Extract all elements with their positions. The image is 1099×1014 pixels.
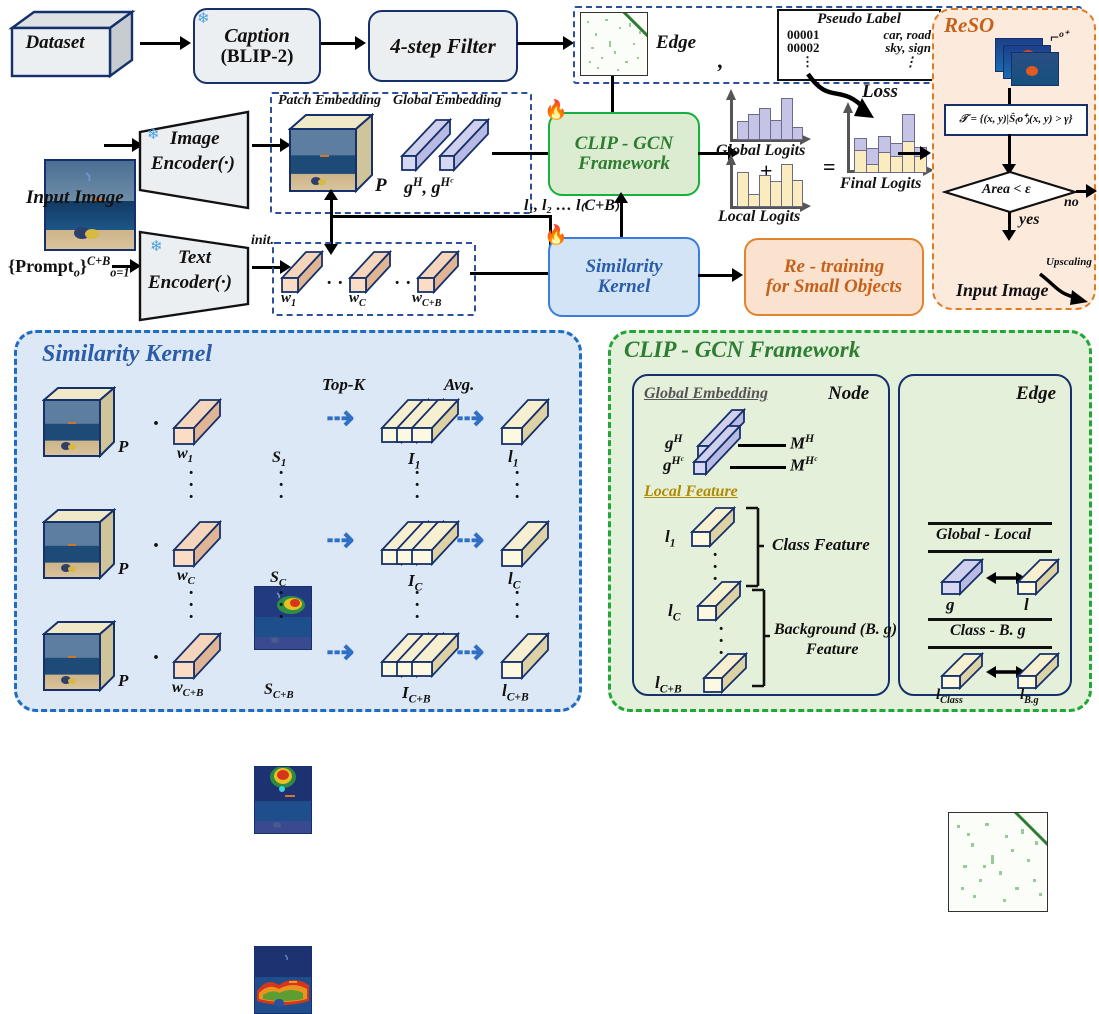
sk-ICB-text: I [402, 683, 409, 702]
image-encoder-label: Image [170, 129, 220, 149]
sk-wcb-sub: C+B [183, 687, 204, 699]
final-logits-chart [843, 110, 935, 176]
node-lc-shape [696, 580, 744, 624]
local-feature-heading: Local Feature [644, 484, 738, 501]
sk-lCB-sub: C+B [507, 690, 529, 703]
sk-row-2-weight [172, 518, 224, 570]
node-g2-text: g [663, 456, 672, 475]
global-embedding-symbols: gH, gHᶜ [404, 176, 453, 197]
filter-box[interactable]: 4-step Filter [368, 10, 518, 82]
arrow-similarity-to-retraining [698, 274, 734, 277]
edge-box-title: Edge [1016, 384, 1056, 404]
global-logits-chart [726, 97, 812, 143]
arrowhead-1 [180, 36, 191, 50]
sk-scb-text: S [264, 681, 273, 698]
edge-lclass-label: lClass [936, 688, 963, 707]
sk-l1-shape [500, 396, 552, 448]
logits-flow-label: l₁, l₂ … l₍C+B₎ [524, 198, 619, 215]
pseudo-id-3: ⋮ [801, 55, 814, 69]
loss-label: Loss [862, 82, 898, 102]
reso-decision-label: Area < ε [982, 183, 1031, 198]
sk-dots-col-l-2: ··· [514, 588, 520, 623]
flame-icon-similarity: 🔥 [544, 226, 568, 245]
edge-matrix-noise [581, 13, 647, 75]
similarity-line1: Similarity [585, 257, 662, 277]
node-lc-bar [696, 580, 744, 624]
sk-row-2-avg-arrow: ⇢ [456, 520, 482, 560]
background-feature-brace [748, 588, 770, 690]
edge-divider-3 [928, 618, 1052, 621]
equals-sign: = [823, 155, 836, 178]
input-image-label: Input Image [26, 188, 124, 208]
node-g1-text: g [665, 434, 674, 453]
node-l1-shape [690, 506, 738, 550]
w1-label: w1 [281, 291, 296, 310]
arrowhead-18 [1086, 184, 1097, 198]
topk-label: Top-K [322, 376, 365, 394]
sk-row-2-patch [42, 508, 116, 580]
sk-dots-col-s-2: ··· [278, 588, 284, 623]
sk-row-3-logit [500, 630, 552, 682]
similarity-kernel-panel-title: Similarity Kernel [42, 342, 212, 367]
sk-I1-shape [380, 392, 462, 450]
arrowhead-12 [614, 192, 628, 203]
clip-gcn-framework-box[interactable]: CLIP - GCN Framework [548, 112, 700, 196]
node-l1-label: l1 [665, 528, 676, 550]
pseudo-label-row-1: 00001 car, road [779, 28, 939, 42]
arrow-similarity-to-clipgcn [620, 199, 623, 237]
arrow-image-to-encoder [104, 144, 134, 147]
edge-label: Edge [656, 33, 696, 53]
sk-wcb-text: w [172, 679, 183, 696]
sk-row-3-patch-label: P [118, 672, 128, 690]
arrowhead-up-1 [324, 189, 338, 200]
sk-wc-shape [172, 518, 224, 570]
edge-matrix-bottom [948, 812, 1048, 912]
wc-shape [348, 248, 392, 294]
text-encoder-sublabel: Encoder(·) [148, 273, 232, 293]
clip-gcn-line2: Framework [578, 154, 670, 174]
edge-l-shape [1016, 558, 1062, 600]
reso-decision-diamond: Area < ε [942, 170, 1078, 214]
clip-gcn-line1: CLIP - GCN [575, 134, 674, 154]
sk-row-2-patch-label: P [118, 560, 128, 578]
patch-embedding-label: Patch Embedding [278, 94, 381, 109]
edge-l-label: l [1024, 596, 1029, 614]
w1-text: w [281, 290, 291, 306]
reso-title: ReSO [944, 14, 994, 36]
node-g2-connector [730, 466, 786, 469]
wcb-text: w [412, 290, 422, 306]
node-m2-label: MHᶜ [790, 455, 817, 475]
node-g2-label: gHᶜ [663, 455, 683, 475]
retraining-line1: Re - training [784, 257, 884, 277]
wcb-bar [416, 248, 460, 294]
pseudo-labels-3: ⋮ [904, 55, 917, 69]
pseudo-id-1: 00001 [787, 28, 820, 42]
sk-wc-text: w [177, 567, 188, 584]
wcb-sub: C+B [422, 298, 441, 309]
class-feature-label: Class Feature [772, 536, 870, 554]
text-encoder-label: Text [178, 248, 211, 268]
reso-arrow-2 [1008, 134, 1011, 166]
sk-dots-col-w-1: ··· [188, 468, 194, 503]
arrow-caption-to-filter [321, 42, 357, 45]
similarity-line2: Kernel [598, 277, 651, 297]
w1-shape [280, 248, 324, 294]
edge-g-shape [940, 558, 986, 600]
sk-ICB-shape [380, 626, 462, 684]
sk-row-3-sim-label: SC+B [264, 682, 294, 702]
arrowhead-19 [1002, 230, 1016, 241]
dataset-label: Dataset [16, 33, 94, 53]
flame-icon-clipgcn: 🔥 [544, 101, 568, 120]
global-embedding-bars [400, 112, 496, 178]
edge-divider-2 [928, 550, 1052, 553]
w1-bar [280, 248, 324, 294]
patch-text-link [330, 196, 333, 246]
arrowhead-15 [920, 146, 931, 160]
sk-cube-2 [42, 508, 116, 580]
sk-row-1-weight [172, 396, 224, 448]
sk-row-3-dot: · [152, 646, 160, 671]
sk-ICB-sub: C+B [409, 692, 431, 705]
sk-row-1-patch-label: P [118, 438, 128, 456]
arrow-filter-to-edge [517, 42, 565, 45]
node-m1-text: M [790, 434, 805, 453]
node-m1-sup: H [805, 432, 814, 445]
pseudo-labels-1: car, road [883, 28, 931, 42]
reso-no-label: no [1064, 196, 1079, 211]
reso-upscaling-label: Upscaling [1046, 257, 1092, 269]
edge-divider-4 [928, 646, 1052, 649]
background-feature-label-1: Background (B. g) [774, 622, 897, 639]
patch-embedding-cube [288, 113, 374, 193]
node-m1-label: MH [790, 433, 814, 453]
sk-row-3-weight-label: wC+B [172, 680, 203, 700]
sk-dots-col-i-2: ··· [414, 588, 420, 623]
reso-output-arrow [1038, 268, 1096, 308]
sk-heat-2 [255, 767, 311, 833]
node-l1-sub: 1 [670, 536, 676, 549]
wc-text: w [349, 290, 359, 306]
sk-row-2-logit [500, 518, 552, 570]
node-l1-bar [690, 506, 738, 550]
node-lcb-shape [702, 652, 750, 696]
caption-box[interactable]: Caption (BLIP-2) [193, 8, 321, 84]
sk-dots-col-l-1: ··· [514, 468, 520, 503]
arrow-prompt-to-textencoder [112, 265, 132, 268]
reso-stack-sup: o⁺ [1059, 30, 1069, 40]
node-lc-label: lC [668, 602, 680, 624]
sk-row-3-topk-label: IC+B [402, 684, 431, 706]
edge-lbg-sub: B.g [1024, 695, 1038, 706]
local-logits-title: Local Logits [718, 209, 800, 226]
reso-stack-symbol: ⌐o⁺ [1050, 30, 1069, 47]
wcb-label: wC+B [412, 291, 441, 310]
arrow-to-reso [898, 152, 922, 155]
node-m2-text: M [790, 456, 805, 475]
pseudo-labels-2: sky, sign [885, 41, 931, 55]
sk-row-3-avg-arrow: ⇢ [456, 632, 482, 672]
node-lc-sub: C [673, 610, 681, 623]
sk-row-3-weight [172, 630, 224, 682]
image-encoder-sublabel: Encoder(·) [151, 154, 235, 174]
similarity-kernel-box[interactable]: Similarity Kernel [548, 237, 700, 317]
pseudo-label-title: Pseudo Label [779, 12, 939, 28]
sk-row-3-logit-label: lC+B [502, 682, 529, 704]
sk-w1-text: w [177, 445, 188, 462]
global-local-label: Global - Local [936, 527, 1031, 544]
edge-g-label: g [946, 596, 955, 614]
sk-w1-shape [172, 396, 224, 448]
w1-sub: 1 [291, 298, 296, 309]
edge-matrix-noise-2 [949, 813, 1047, 911]
g-symbol-2: g [432, 177, 441, 197]
class-feature-brace [742, 506, 764, 590]
sk-dots-col-i-1: ··· [414, 468, 420, 503]
retraining-box[interactable]: Re - training for Small Objects [744, 238, 924, 316]
pseudo-id-2: 00002 [787, 41, 820, 55]
sk-scb-sub: C+B [273, 689, 294, 701]
edge-lclass-sub: Class [940, 695, 963, 706]
wc-sub: C [359, 298, 366, 309]
clip-gcn-panel-title: CLIP - GCN Framework [624, 338, 860, 362]
node-m2-sup: Hᶜ [805, 454, 817, 467]
reso-formula-box: 𝒯 = {(x, y)|Ŝ₍o⁺₎(x, y) > γ} [944, 104, 1088, 136]
node-lcb-sub: C+B [660, 682, 682, 695]
caption-sublabel: (BLIP-2) [221, 47, 294, 67]
sk-row-1-patch [42, 386, 116, 458]
class-bg-label: Class - B. g [950, 623, 1026, 640]
arrowhead-2 [355, 36, 366, 50]
edge-g-bar [940, 558, 986, 600]
patch-cube-shape [288, 113, 374, 193]
edge-matrix-top [580, 12, 648, 76]
edge-lbg-label: lB.g [1020, 688, 1039, 707]
sk-row-3-patch [42, 620, 116, 692]
sk-row-1-dot: · [152, 412, 160, 437]
reso-formula: 𝒯 = {(x, y)|Ŝ₍o⁺₎(x, y) > γ} [959, 114, 1072, 126]
sk-row-2-topk-out [380, 514, 462, 572]
edge-divider-1 [928, 522, 1052, 525]
arrowhead-14 [732, 268, 743, 282]
sk-row-2-simmap [254, 766, 312, 834]
g-sup-1: H [413, 175, 423, 189]
global-bars-shape [400, 112, 496, 178]
global-embedding-heading: Global Embedding [644, 386, 768, 403]
node-g1-label: gH [665, 433, 682, 453]
background-feature-label-2: Feature [806, 642, 858, 659]
arrow-dataset-to-caption [140, 42, 182, 45]
retraining-line2: for Small Objects [766, 277, 902, 297]
wcb-shape [416, 248, 460, 294]
sk-dots-col-s-1: ··· [278, 468, 284, 503]
caption-label: Caption [224, 26, 290, 47]
comma-separator: , [718, 49, 724, 72]
init-label: init. [251, 234, 274, 249]
sk-row-1-avg-arrow: ⇢ [456, 398, 482, 438]
pseudo-label-row-3: ⋮ ⋮ [779, 55, 939, 69]
node-g1-sup: H [674, 432, 683, 445]
edge-l-bar [1016, 558, 1062, 600]
sk-row-2-dot: · [152, 534, 160, 559]
prompt-text: {Prompt [8, 256, 74, 276]
sk-row-1-topk-out [380, 392, 462, 450]
sk-row-3-topk-arrow: ⇢ [326, 632, 352, 672]
g-symbol-1: g [404, 177, 413, 197]
sk-lC-shape [500, 518, 552, 570]
local-logits-chart [726, 162, 812, 210]
prompt-sup: C+B [87, 254, 110, 268]
snowflake-icon-text-encoder: ❄ [150, 240, 163, 255]
reso-input-image-label: Input Image [956, 281, 1049, 300]
g-sup-2: Hᶜ [441, 175, 454, 189]
snowflake-icon-image-encoder: ❄ [147, 128, 160, 143]
node-lcb-bar [702, 652, 750, 696]
node-lcb-label: lC+B [655, 674, 682, 696]
sk-heat-3 [255, 947, 311, 1013]
sk-row-3-simmap [254, 946, 312, 1014]
sk-row-1-logit [500, 396, 552, 448]
node-g2-sup: Hᶜ [672, 454, 684, 467]
sk-lCB-shape [500, 630, 552, 682]
pseudo-label-row-2: 00002 sky, sign [779, 41, 939, 55]
prompt-sub: o [74, 266, 80, 280]
sk-cube-1 [42, 386, 116, 458]
sk-cube-3 [42, 620, 116, 692]
patch-symbol: P [375, 176, 387, 196]
final-logits-title: Final Logits [840, 176, 921, 193]
sk-row-3-topk-out [380, 626, 462, 684]
global-embedding-label: Global Embedding [393, 94, 502, 109]
line-to-similarity-kernel [330, 215, 552, 218]
sk-row-1-topk-arrow: ⇢ [326, 398, 352, 438]
node-title: Node [828, 384, 869, 404]
node-g1-connector [738, 444, 786, 447]
sk-IC-shape [380, 514, 462, 572]
snowflake-icon-caption: ❄ [197, 12, 210, 27]
reso-arrow-3 [1008, 212, 1011, 232]
sk-row-2-topk-arrow: ⇢ [326, 520, 352, 560]
filter-label: 4-step Filter [390, 35, 496, 57]
wc-bar [348, 248, 392, 294]
reso-yes-label: yes [1019, 212, 1039, 229]
wc-label: wC [349, 291, 366, 310]
sk-wcb-shape [172, 630, 224, 682]
sk-dots-col-w-2: ··· [188, 588, 194, 623]
